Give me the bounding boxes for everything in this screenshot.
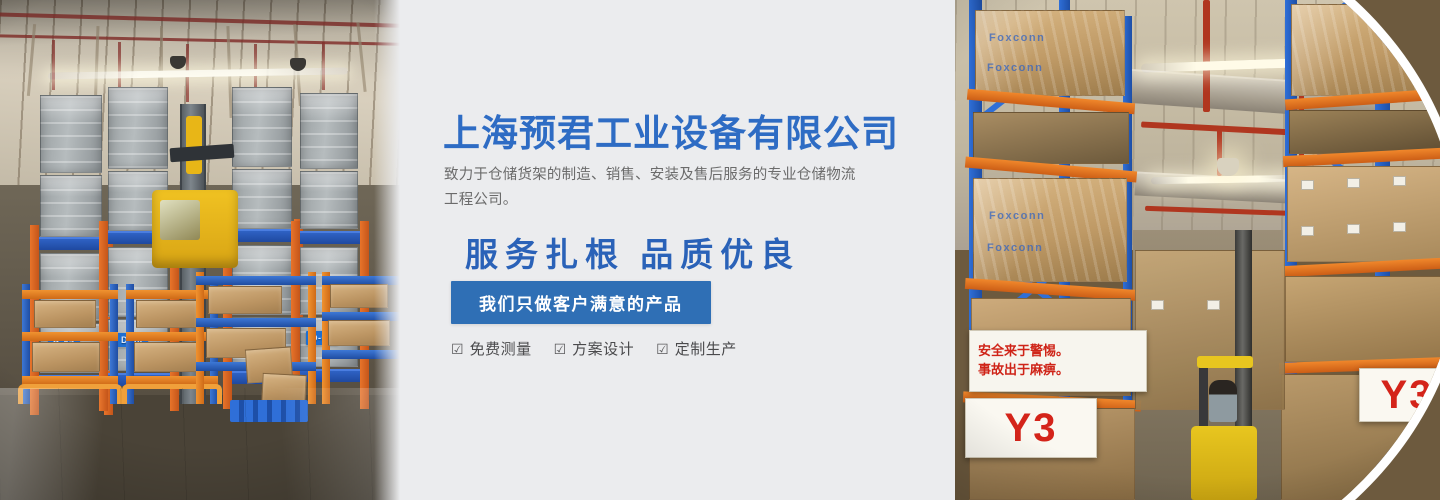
aisle-marker-text: Y3: [1381, 375, 1434, 415]
feature-item-free-measurement[interactable]: ☑ 免费测量: [451, 338, 532, 359]
carton-brand-text: Foxconn: [987, 242, 1043, 254]
carton-brand-text: Foxconn: [989, 210, 1045, 222]
carton: [136, 300, 198, 328]
stacked-tote: [40, 175, 102, 237]
photo-edge-fade: [374, 0, 400, 500]
aisle-marker-text: Y3: [1005, 408, 1058, 448]
feature-label: 方案设计: [572, 338, 634, 359]
checkbox-checked-icon: ☑: [656, 342, 669, 356]
right-photo-scene: Foxconn Foxconn Foxconn Foxconn: [955, 0, 1440, 500]
carton-label: [1301, 226, 1314, 236]
rack-upright: [196, 272, 204, 404]
stacked-tote: [300, 93, 358, 169]
rack-upright: [308, 272, 316, 404]
palletized-load: [973, 178, 1127, 282]
forklift-cab: [152, 190, 238, 268]
left-photo-scene: D-07 D-06: [0, 0, 400, 500]
rack-beam: [196, 318, 316, 327]
carton-label: [1347, 224, 1360, 234]
ceiling-hanger: [52, 40, 55, 90]
forklift-cab-glass: [160, 200, 200, 240]
stacked-tote: [300, 171, 358, 229]
feature-list: ☑ 免费测量 ☑ 方案设计 ☑ 定制生产: [451, 338, 737, 359]
palletized-load: [1291, 4, 1440, 96]
carton-label: [1151, 300, 1164, 310]
rack-beam: [22, 290, 118, 299]
stacked-tote: [232, 87, 292, 167]
reach-truck-forklift: [1191, 350, 1267, 500]
rack-beam: [293, 231, 365, 244]
carton-brand-text: Foxconn: [987, 62, 1043, 74]
feature-label: 免费测量: [470, 338, 532, 359]
warehouse-floor: [0, 388, 400, 500]
rack-beam: [196, 276, 316, 285]
pallet-deck: [1289, 110, 1440, 154]
safety-sign-line: 安全来于警惕。: [978, 342, 1138, 361]
carton: [208, 286, 282, 314]
safety-sign: 安全来于警惕。 事故出于麻痹。: [969, 330, 1147, 392]
left-warehouse-photo: D-07 D-06: [0, 0, 400, 500]
carton-label: [1347, 178, 1360, 188]
checkbox-checked-icon: ☑: [451, 342, 464, 356]
forklift-operator: [1209, 380, 1237, 422]
feature-item-custom-production[interactable]: ☑ 定制生产: [656, 338, 737, 359]
company-headline: 上海预君工业设备有限公司: [443, 103, 899, 157]
forklift-boom: [170, 144, 235, 162]
sprinkler-pipe: [1203, 0, 1210, 112]
high-bay-light: [1217, 158, 1239, 176]
carton: [134, 342, 200, 372]
carton: [34, 300, 96, 328]
stacked-tote: [232, 169, 292, 229]
aisle-marker-sign: Y3: [965, 398, 1097, 458]
stacked-tote: [40, 95, 102, 173]
carton-label: [1393, 222, 1406, 232]
aisle-marker-sign: Y3: [1359, 368, 1440, 422]
feature-item-scheme-design[interactable]: ☑ 方案设计: [554, 338, 635, 359]
carton-brand-text: Foxconn: [989, 32, 1045, 44]
carton-label: [1207, 300, 1220, 310]
pallet-deck: [973, 112, 1129, 164]
rack-beam: [22, 332, 118, 341]
carton: [32, 342, 100, 372]
feature-label: 定制生产: [675, 338, 737, 359]
forklift-canopy-post: [1199, 364, 1208, 426]
company-slogan: 服务扎根 品质优良: [465, 228, 800, 276]
ceiling-hanger: [322, 42, 325, 90]
cta-button[interactable]: 我们只做客户满意的产品: [451, 281, 711, 324]
carton-label: [1393, 176, 1406, 186]
forklift-body: [1191, 426, 1257, 500]
hero-banner: D-07 D-06: [0, 0, 1440, 500]
circular-photo-mask: Foxconn Foxconn Foxconn Foxconn: [955, 0, 1440, 500]
company-subtitle: 致力于仓储货架的制造、销售、安装及售后服务的专业仓储物流工程公司。: [444, 163, 864, 214]
rack-beam: [33, 237, 109, 250]
palletized-load: [1285, 276, 1440, 362]
ground-rack: [22, 284, 118, 404]
carton-label: [1301, 180, 1314, 190]
checkbox-checked-icon: ☑: [554, 342, 567, 356]
palletized-load: [975, 10, 1125, 96]
forklift-canopy: [1197, 356, 1253, 368]
banner-content: 上海预君工业设备有限公司 致力于仓储货架的制造、销售、安装及售后服务的专业仓储物…: [443, 0, 963, 500]
forklift-boom-vertical: [186, 116, 202, 174]
safety-sign-line: 事故出于麻痹。: [978, 361, 1138, 380]
right-warehouse-photo: Foxconn Foxconn Foxconn Foxconn: [955, 0, 1440, 500]
